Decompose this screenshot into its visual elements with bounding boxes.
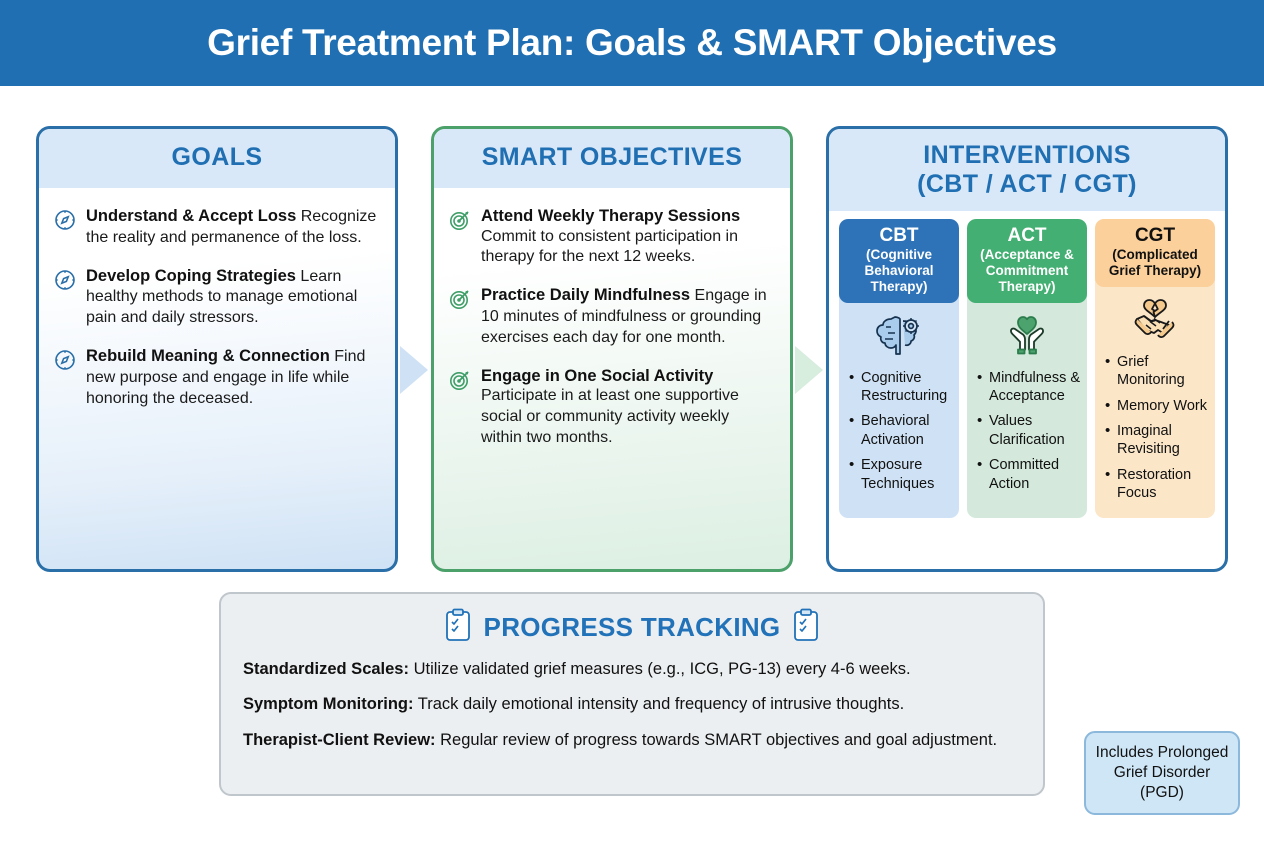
target-icon [448,206,472,268]
progress-row-text: Regular review of progress towards SMART… [436,731,998,749]
broken-heart-handshake-icon [1095,287,1215,353]
interventions-header: INTERVENTIONS (CBT / ACT / CGT) [829,129,1225,211]
progress-row-text: Track daily emotional intensity and freq… [413,695,904,713]
clipboard-check-icon [792,608,820,647]
target-icon [448,285,472,348]
panel-smart-objectives: SMART OBJECTIVES Attend Weekly Therapy S… [431,126,793,572]
interventions-subheading: (CBT / ACT / CGT) [835,170,1219,199]
progress-heading: PROGRESS TRACKING [484,612,781,643]
progress-tracking-title: PROGRESS TRACKING [243,608,1021,647]
page-title: Grief Treatment Plan: Goals & SMART Obje… [207,22,1057,64]
cbt-abbr: CBT [843,225,955,247]
act-abbr: ACT [971,225,1083,247]
list-item: Memory Work [1105,397,1209,415]
cbt-full-name: (Cognitive Behavioral Therapy) [843,247,955,295]
objective-text: Practice Daily Mindfulness Engage in 10 … [481,285,772,348]
compass-icon [53,346,77,409]
objective-desc: Commit to consistent participation in th… [481,228,738,266]
heart-in-hands-icon [967,303,1087,369]
goal-text: Understand & Accept Loss Recognize the r… [86,206,377,249]
progress-row: Symptom Monitoring: Track daily emotiona… [243,694,1021,715]
list-item: Grief Monitoring [1105,353,1209,390]
objective-text: Attend Weekly Therapy Sessions Commit to… [481,206,772,268]
arrow-right-icon [795,346,823,394]
list-item: Attend Weekly Therapy Sessions Commit to… [448,206,772,268]
intervention-column-act: ACT (Acceptance & Commitment Therapy) Mi… [967,219,1087,518]
goal-text: Develop Coping Strategies Learn healthy … [86,266,377,329]
smart-header: SMART OBJECTIVES [434,129,790,188]
cgt-bullets: Grief Monitoring Memory Work Imaginal Re… [1095,353,1215,518]
smart-list: Attend Weekly Therapy Sessions Commit to… [434,188,790,449]
progress-row: Therapist-Client Review: Regular review … [243,730,1021,751]
brain-gear-icon [839,303,959,369]
objective-title: Practice Daily Mindfulness [481,286,690,304]
intervention-column-cgt: CGT (Complicated Grief Therapy) [1095,219,1215,518]
objective-desc: Participate in at least one supportive s… [481,387,739,446]
list-item: Understand & Accept Loss Recognize the r… [53,206,377,249]
panel-interventions: INTERVENTIONS (CBT / ACT / CGT) CBT (Cog… [826,126,1228,572]
progress-row-label: Therapist-Client Review: [243,731,436,749]
compass-icon [53,266,77,329]
goals-list: Understand & Accept Loss Recognize the r… [39,188,395,409]
objective-title: Attend Weekly Therapy Sessions [481,207,740,225]
progress-row-label: Symptom Monitoring: [243,695,413,713]
list-item: Committed Action [977,456,1081,493]
interventions-heading: INTERVENTIONS [923,141,1131,169]
goal-title: Rebuild Meaning & Connection [86,347,330,365]
cgt-full-name: (Complicated Grief Therapy) [1099,247,1211,279]
act-full-name: (Acceptance & Commitment Therapy) [971,247,1083,295]
pgd-badge: Includes Prolonged Grief Disorder (PGD) [1084,731,1240,815]
cgt-abbr: CGT [1099,225,1211,247]
goal-title: Understand & Accept Loss [86,207,296,225]
progress-row: Standardized Scales: Utilize validated g… [243,659,1021,680]
progress-tracking-panel: PROGRESS TRACKING Standardized Scales: U… [219,592,1045,796]
arrow-right-icon [400,346,428,394]
smart-heading: SMART OBJECTIVES [482,143,743,171]
list-item: Restoration Focus [1105,466,1209,503]
objective-title: Engage in One Social Activity [481,367,713,385]
cbt-bullets: Cognitive Restructuring Behavioral Activ… [839,369,959,518]
list-item: Practice Daily Mindfulness Engage in 10 … [448,285,772,348]
act-bullets: Mindfulness & Acceptance Values Clarific… [967,369,1087,518]
list-item: Exposure Techniques [849,456,953,493]
page-header: Grief Treatment Plan: Goals & SMART Obje… [0,0,1264,86]
progress-row-text: Utilize validated grief measures (e.g., … [409,660,911,678]
progress-row-label: Standardized Scales: [243,660,409,678]
list-item: Engage in One Social Activity Participat… [448,366,772,449]
list-item: Imaginal Revisiting [1105,422,1209,459]
list-item: Develop Coping Strategies Learn healthy … [53,266,377,329]
panels-row: GOALS Understand & Accept Loss Recognize… [0,126,1264,572]
list-item: Behavioral Activation [849,412,953,449]
goal-title: Develop Coping Strategies [86,267,296,285]
goals-header: GOALS [39,129,395,188]
goals-heading: GOALS [172,143,263,171]
compass-icon [53,206,77,249]
clipboard-check-icon [444,608,472,647]
list-item: Mindfulness & Acceptance [977,369,1081,406]
panel-goals: GOALS Understand & Accept Loss Recognize… [36,126,398,572]
pgd-badge-text: Includes Prolonged Grief Disorder (PGD) [1090,743,1234,803]
cgt-header: CGT (Complicated Grief Therapy) [1095,219,1215,287]
intervention-column-cbt: CBT (Cognitive Behavioral Therapy) Cogni… [839,219,959,518]
target-icon [448,366,472,449]
list-item: Values Clarification [977,412,1081,449]
list-item: Cognitive Restructuring [849,369,953,406]
objective-text: Engage in One Social Activity Participat… [481,366,772,449]
cbt-header: CBT (Cognitive Behavioral Therapy) [839,219,959,303]
list-item: Rebuild Meaning & Connection Find new pu… [53,346,377,409]
intervention-columns: CBT (Cognitive Behavioral Therapy) Cogni… [829,211,1225,528]
goal-text: Rebuild Meaning & Connection Find new pu… [86,346,377,409]
act-header: ACT (Acceptance & Commitment Therapy) [967,219,1087,303]
